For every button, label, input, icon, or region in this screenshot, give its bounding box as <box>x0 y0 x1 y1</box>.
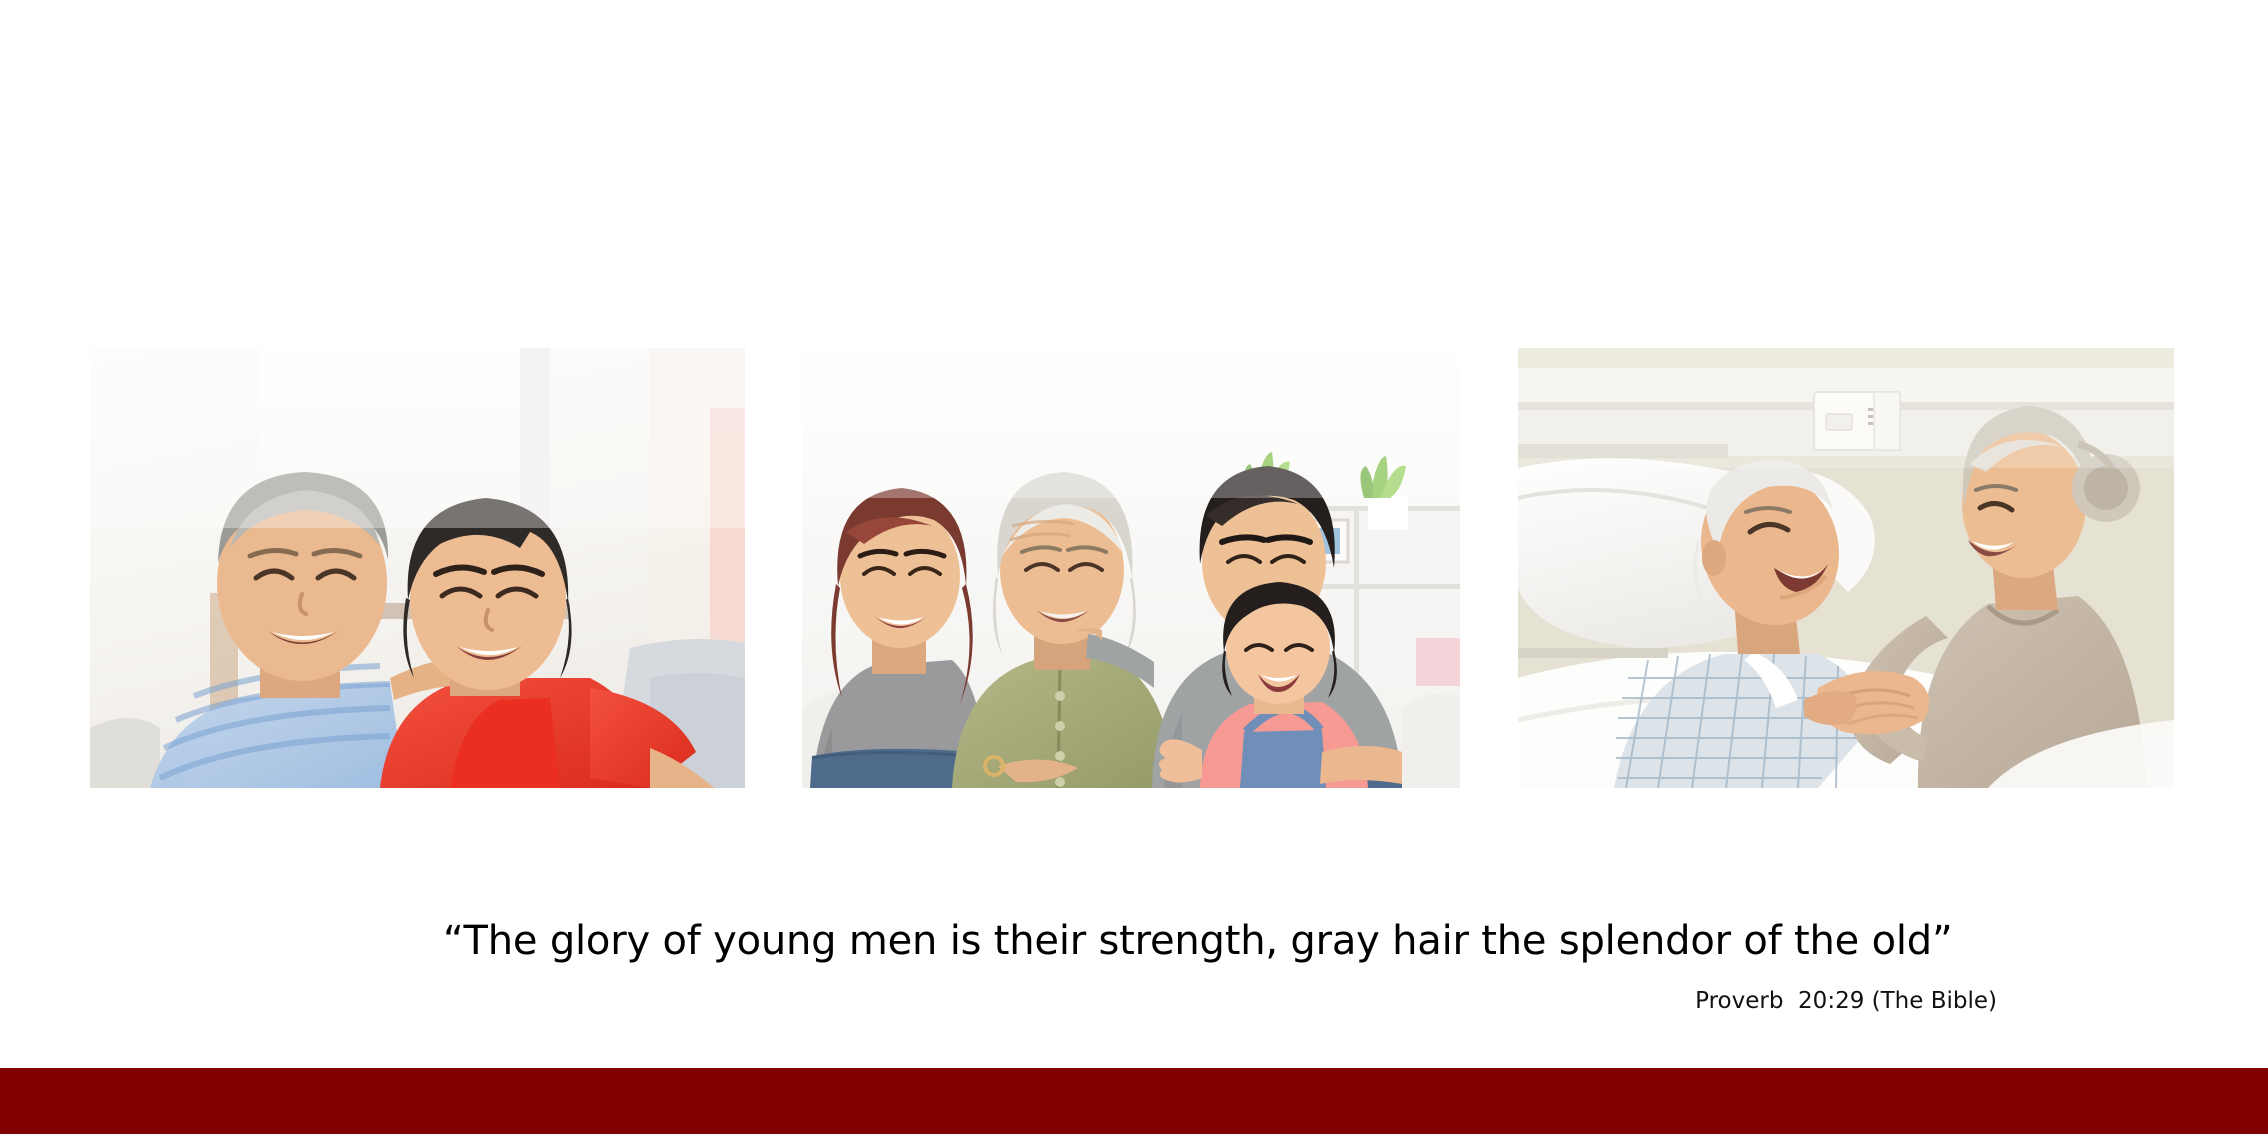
photo-3-artwork <box>1518 348 2174 788</box>
photo-hospital-bedside <box>1518 348 2174 788</box>
photo-senior-couple-selfie <box>90 348 745 788</box>
photo-strip <box>0 348 2268 788</box>
bottom-accent-bar <box>0 1068 2268 1134</box>
photo-2-artwork <box>802 348 1460 788</box>
photo-three-generation-family <box>802 348 1460 788</box>
quote-attribution: Proverb 20:29 (The Bible) <box>1000 988 1997 1014</box>
quote-block: “The glory of young men is their strengt… <box>0 900 2268 1040</box>
quote-text: “The glory of young men is their strengt… <box>443 918 1713 964</box>
photo-1-artwork <box>90 348 745 788</box>
slide-canvas: “The glory of young men is their strengt… <box>0 0 2268 1134</box>
